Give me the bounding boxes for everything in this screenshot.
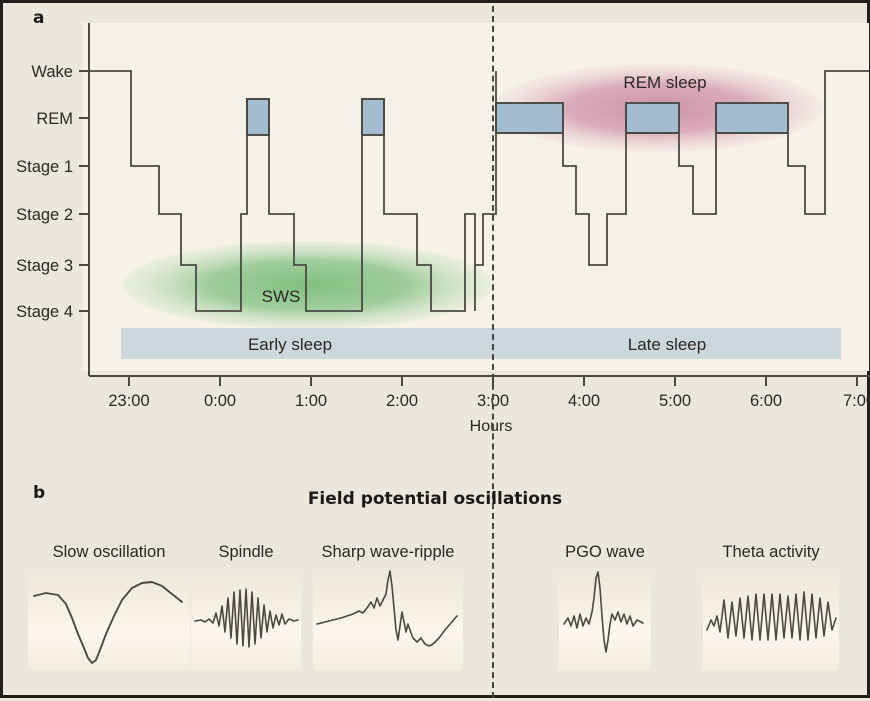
waveform-spindle: Spindle — [191, 543, 301, 670]
x-tick-label-0700: 7:00 — [843, 392, 870, 410]
panel-b-title: Field potential oscillations — [3, 489, 867, 509]
x-tick-label-0100: 1:00 — [295, 392, 327, 410]
x-tick-label-0000: 0:00 — [204, 392, 236, 410]
spindle-trace — [191, 568, 301, 670]
hypnogram-chart: SWS REM sleep Early sl — [3, 3, 870, 473]
waveform-label-slow-oscillation: Slow oscillation — [28, 543, 190, 562]
late-sleep-label: Late sleep — [628, 335, 706, 354]
waveform-theta-activity: Theta activity — [703, 543, 839, 670]
x-tick-label-0200: 2:00 — [386, 392, 418, 410]
rem-box-5 — [716, 103, 788, 133]
y-tick-label-stage-1: Stage 1 — [16, 158, 73, 176]
rem-box-3 — [496, 103, 563, 133]
rem-box-4 — [626, 103, 679, 133]
waveform-label-pgo-wave: PGO wave — [559, 543, 651, 562]
slow-oscillation-trace — [28, 568, 190, 670]
y-tick-label-rem: REM — [36, 110, 73, 128]
waveform-label-sharp-wave-ripple: Sharp wave-ripple — [313, 543, 463, 562]
rem-box-1 — [247, 99, 269, 135]
figure-container: a SWS REM sleep — [0, 0, 870, 698]
y-tick-label-stage-3: Stage 3 — [16, 257, 73, 275]
waveform-row: Slow oscillation Spindle Sharp wave-ripp… — [3, 543, 870, 701]
rem-sleep-label: REM sleep — [623, 73, 706, 92]
y-tick-label-stage-2: Stage 2 — [16, 206, 73, 224]
waveform-label-spindle: Spindle — [191, 543, 301, 562]
sleep-period-bars: Early sleep Late sleep — [121, 328, 841, 359]
theta-activity-trace — [703, 568, 839, 670]
waveform-pgo-wave: PGO wave — [559, 543, 651, 670]
waveform-sharp-wave-ripple: Sharp wave-ripple — [313, 543, 463, 670]
y-tick-label-stage-4: Stage 4 — [16, 303, 73, 321]
x-tick-label-0600: 6:00 — [750, 392, 782, 410]
x-axis-title: Hours — [470, 418, 513, 435]
x-tick-label-0400: 4:00 — [568, 392, 600, 410]
waveform-label-theta-activity: Theta activity — [703, 543, 839, 562]
pgo-wave-trace — [559, 568, 651, 670]
rem-box-2 — [362, 99, 384, 135]
y-tick-label-wake: Wake — [31, 63, 73, 81]
sws-label: SWS — [262, 287, 301, 306]
x-tick-label-0500: 5:00 — [659, 392, 691, 410]
x-tick-label-2300: 23:00 — [108, 392, 149, 410]
waveform-slow-oscillation: Slow oscillation — [28, 543, 190, 670]
sws-region: SWS — [123, 241, 493, 329]
early-sleep-label: Early sleep — [248, 335, 332, 354]
sharp-wave-ripple-trace — [313, 568, 463, 670]
